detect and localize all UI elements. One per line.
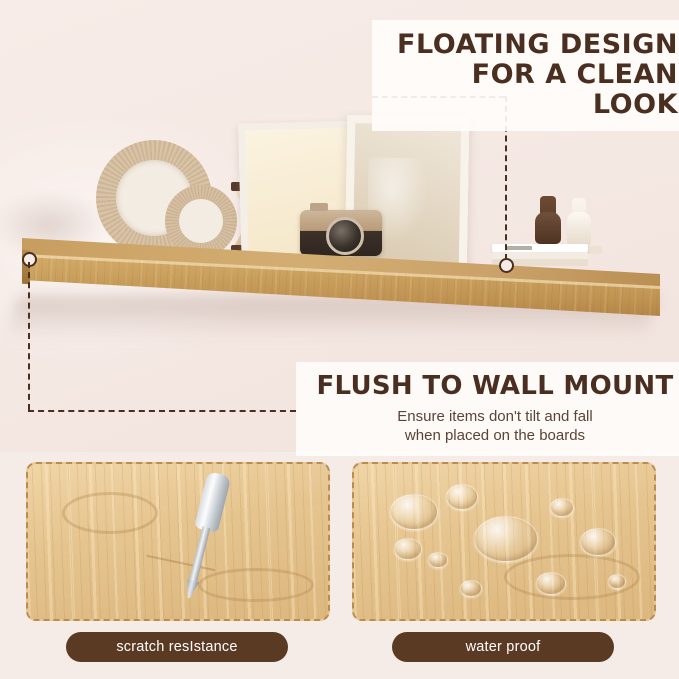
water-droplet-2 (446, 484, 478, 510)
water-droplet-6 (550, 498, 574, 517)
water-droplet-10 (608, 574, 626, 589)
screwdriver-tip (183, 579, 199, 599)
screwdriver-shaft (189, 526, 211, 584)
water-droplet-8 (536, 572, 566, 595)
callout-top-line1: FLOATING DESIGN (388, 30, 678, 60)
water-droplet-3 (474, 516, 538, 562)
wood-knot-1 (62, 492, 158, 534)
callout-anchor-dot-top (499, 258, 514, 273)
water-droplet-4 (394, 538, 422, 560)
callout-line-bottom-horizontal (28, 410, 296, 412)
callout-bottom-title: FLUSH TO WALL MOUNT (312, 372, 678, 402)
callout-bottom-subtitle-line2: when placed on the boards (312, 426, 678, 446)
water-droplet-9 (460, 580, 482, 597)
callout-top-line2: FOR A CLEAN LOOK (388, 60, 678, 120)
screwdriver-handle (194, 471, 231, 533)
callout-flush-to-wall: FLUSH TO WALL MOUNT Ensure items don't t… (296, 362, 679, 456)
floating-shelf (22, 234, 660, 326)
feature-label-waterproof: water proof (392, 632, 614, 662)
feature-panel-waterproof (352, 462, 656, 621)
callout-bottom-subtitle-line1: Ensure items don't tilt and fall (312, 407, 678, 427)
water-droplet-7 (580, 528, 616, 556)
water-droplet-1 (390, 494, 438, 530)
feature-label-scratch: scratch resIstance (66, 632, 288, 662)
camera-viewfinder (310, 203, 328, 211)
product-infographic: FLOATING DESIGN FOR A CLEAN LOOK FLUSH T… (0, 0, 679, 679)
callout-floating-design: FLOATING DESIGN FOR A CLEAN LOOK (372, 20, 679, 131)
water-droplet-5 (428, 552, 448, 568)
callout-line-bottom-vertical (28, 262, 30, 410)
feature-panel-scratch (26, 462, 330, 621)
